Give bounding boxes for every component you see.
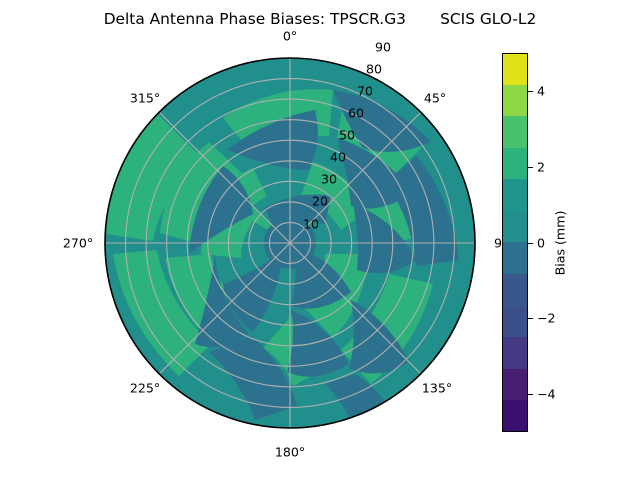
polar-axes: 0° 45° 90 135° 180° 225° 270° 315° 10 20…: [105, 58, 475, 428]
colorbar-segment: [502, 274, 528, 306]
colorbar: 420−2−4: [502, 53, 528, 432]
radial-tick-40: 40: [330, 150, 346, 165]
colorbar-gradient: [502, 53, 528, 432]
colorbar-tick-mark: [528, 318, 533, 319]
colorbar-segment: [502, 53, 528, 85]
radial-tick-30: 30: [321, 172, 337, 187]
polar-plot-svg: [105, 58, 475, 428]
radial-tick-70: 70: [357, 84, 373, 99]
colorbar-segment: [502, 242, 528, 274]
radial-tick-10: 10: [303, 217, 319, 232]
colorbar-tick-label: 2: [537, 159, 545, 174]
radial-tick-60: 60: [348, 106, 364, 121]
colorbar-segment: [502, 306, 528, 338]
colorbar-tick-label: −2: [537, 311, 556, 326]
polar-angular-gridlines: [105, 58, 475, 428]
angular-tick-225: 225°: [130, 381, 160, 396]
colorbar-tick-mark: [528, 167, 533, 168]
angular-tick-0: 0°: [283, 29, 297, 44]
colorbar-segment: [502, 148, 528, 180]
radial-tick-20: 20: [312, 194, 328, 209]
colorbar-tick-label: −4: [537, 387, 556, 402]
colorbar-segment: [502, 337, 528, 369]
angular-tick-315: 315°: [130, 91, 160, 106]
colorbar-segment: [502, 116, 528, 148]
colorbar-tick-label: 0: [537, 235, 545, 250]
radial-tick-80: 80: [366, 62, 382, 77]
radial-tick-90: 90: [375, 40, 391, 55]
colorbar-tick-mark: [528, 243, 533, 244]
colorbar-axis-label: Bias (mm): [553, 211, 568, 276]
chart-title: Delta Antenna Phase Biases: TPSCR.G3 SCI…: [0, 10, 640, 28]
colorbar-segment: [502, 179, 528, 211]
figure-canvas: Delta Antenna Phase Biases: TPSCR.G3 SCI…: [0, 0, 640, 480]
colorbar-segment: [502, 369, 528, 401]
colorbar-segment: [502, 85, 528, 117]
angular-tick-270: 270°: [63, 236, 93, 251]
colorbar-tick-mark: [528, 91, 533, 92]
colorbar-segment: [502, 400, 528, 432]
angular-tick-45: 45°: [424, 91, 446, 106]
angular-tick-135: 135°: [422, 381, 452, 396]
colorbar-segment: [502, 211, 528, 243]
radial-tick-50: 50: [339, 128, 355, 143]
angular-tick-180: 180°: [275, 445, 305, 460]
colorbar-tick-mark: [528, 394, 533, 395]
colorbar-tick-label: 4: [537, 83, 545, 98]
